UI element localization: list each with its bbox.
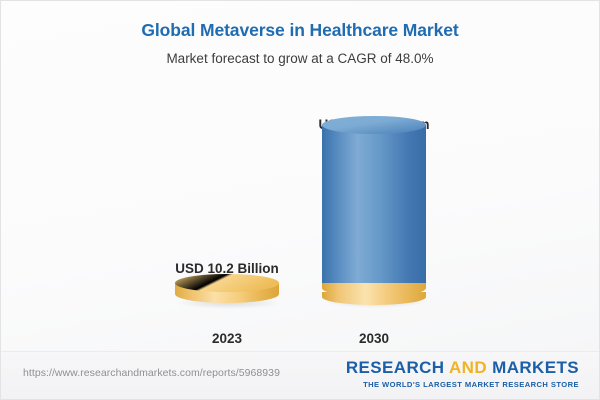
- logo-word-research: RESEARCH: [346, 358, 445, 377]
- chart-card: Global Metaverse in Healthcare Market Ma…: [0, 0, 600, 400]
- source-url[interactable]: https://www.researchandmarkets.com/repor…: [23, 367, 280, 379]
- logo-tagline: THE WORLD'S LARGEST MARKET RESEARCH STOR…: [346, 377, 579, 389]
- chart-subtitle: Market forecast to grow at a CAGR of 48.…: [1, 41, 599, 66]
- logo-word-and: AND: [449, 358, 487, 377]
- plot-area: USD 10.2 Billion: [1, 81, 600, 346]
- logo-wordmark: RESEARCH AND MARKETS: [346, 359, 579, 377]
- chart-title: Global Metaverse in Healthcare Market: [1, 20, 599, 41]
- chart-footer: https://www.researchandmarkets.com/repor…: [1, 351, 599, 399]
- category-label-2030: 2030: [274, 331, 474, 346]
- logo-word-markets: MARKETS: [492, 358, 579, 377]
- bar-cylinder-2030: [322, 116, 426, 306]
- research-and-markets-logo[interactable]: RESEARCH AND MARKETS THE WORLD'S LARGEST…: [346, 359, 579, 389]
- bar-cylinder-2023: [175, 272, 279, 306]
- chart-header: Global Metaverse in Healthcare Market Ma…: [1, 1, 599, 66]
